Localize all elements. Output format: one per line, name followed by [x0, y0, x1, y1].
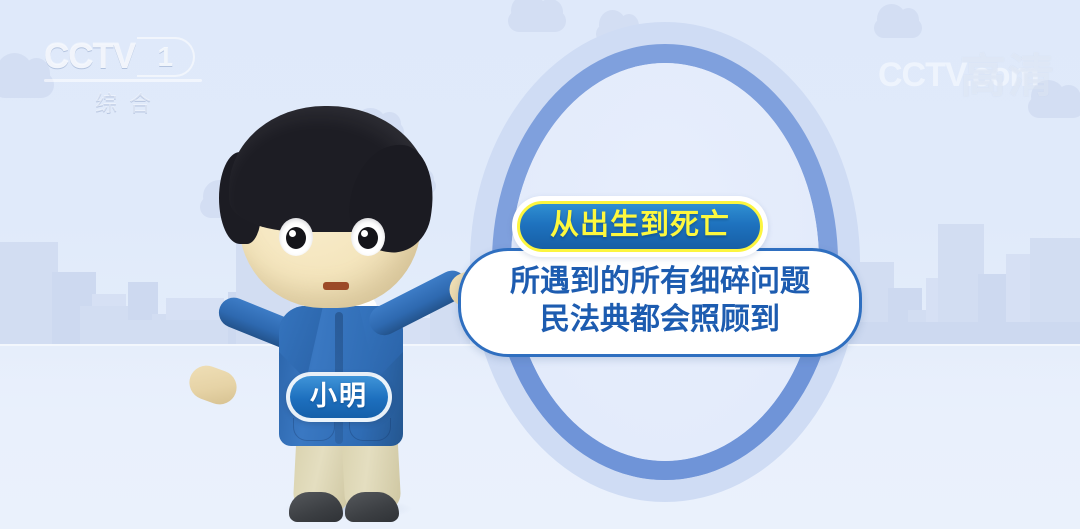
speech-line-2: 民法典都会照顾到	[479, 301, 841, 339]
speech-bubble-body: 所遇到的所有细碎问题 民法典都会照顾到	[458, 248, 862, 357]
headline-text: 从出生到死亡	[550, 209, 730, 241]
broadcast-frame: CCTV 1 综合 CCTV.com 高清	[0, 0, 1080, 529]
channel-number: 1	[157, 41, 173, 73]
mouth	[323, 282, 349, 290]
pupil-right	[358, 227, 378, 249]
shoe-left	[289, 492, 343, 522]
lapel-left	[279, 306, 323, 380]
character-name-label: 小明	[310, 382, 368, 410]
cloud-icon	[874, 18, 922, 38]
speech-headline-pill: 从出生到死亡	[512, 196, 768, 257]
cctv1-channel-logo: CCTV 1 综合	[44, 36, 214, 108]
cctv-com-watermark: CCTV.com 高清	[878, 40, 1074, 102]
character-xiaoming: 小明	[175, 100, 495, 529]
logo-divider	[44, 79, 202, 82]
pupil-left	[286, 227, 306, 249]
watermark-quality: 高清	[960, 40, 1056, 106]
cloud-icon	[508, 10, 566, 32]
speech-line-1: 所遇到的所有细碎问题	[479, 263, 841, 301]
shoe-right	[345, 492, 399, 522]
character-name-badge: 小明	[286, 372, 392, 422]
channel-number-badge: 1	[137, 37, 195, 77]
cctv-wordmark: CCTV	[44, 36, 135, 78]
eye-right	[351, 218, 385, 256]
headline-pill-inner: 从出生到死亡	[517, 201, 763, 252]
hand-left	[185, 361, 242, 409]
eye-left	[279, 218, 313, 256]
